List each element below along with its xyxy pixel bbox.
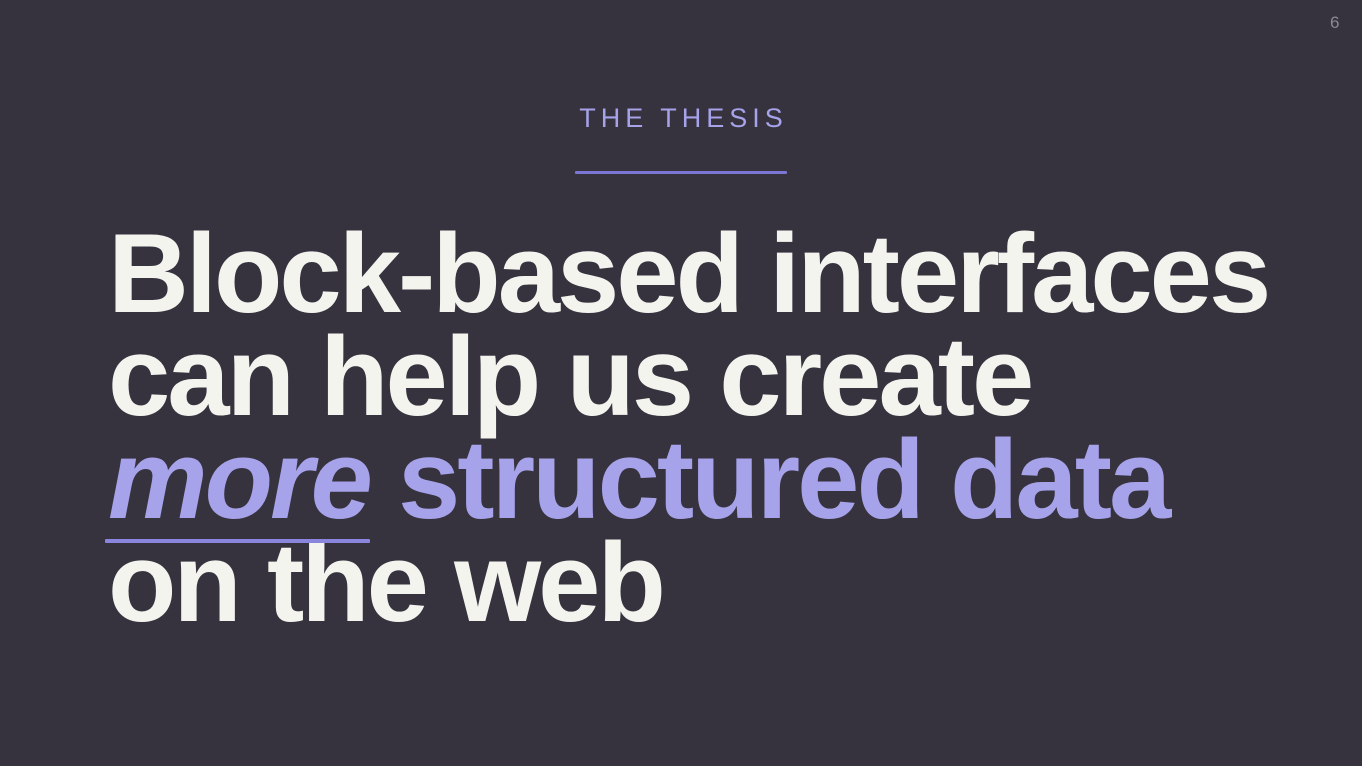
page-number: 6 bbox=[1330, 14, 1340, 31]
headline-line-2: can help us create bbox=[108, 325, 1288, 428]
headline-emphasis-more: more bbox=[108, 428, 370, 531]
eyebrow-label: THE THESIS bbox=[574, 104, 788, 134]
headline-line-4: on the web bbox=[108, 531, 1288, 634]
headline-line-3: more structured data bbox=[108, 428, 1288, 531]
headline: Block-based interfaces can help us creat… bbox=[108, 222, 1288, 634]
eyebrow-divider-rule bbox=[575, 171, 787, 174]
slide-canvas: 6 THE THESIS Block-based interfaces can … bbox=[0, 0, 1362, 766]
headline-line-1: Block-based interfaces bbox=[108, 222, 1288, 325]
eyebrow-section: THE THESIS bbox=[0, 104, 1362, 134]
